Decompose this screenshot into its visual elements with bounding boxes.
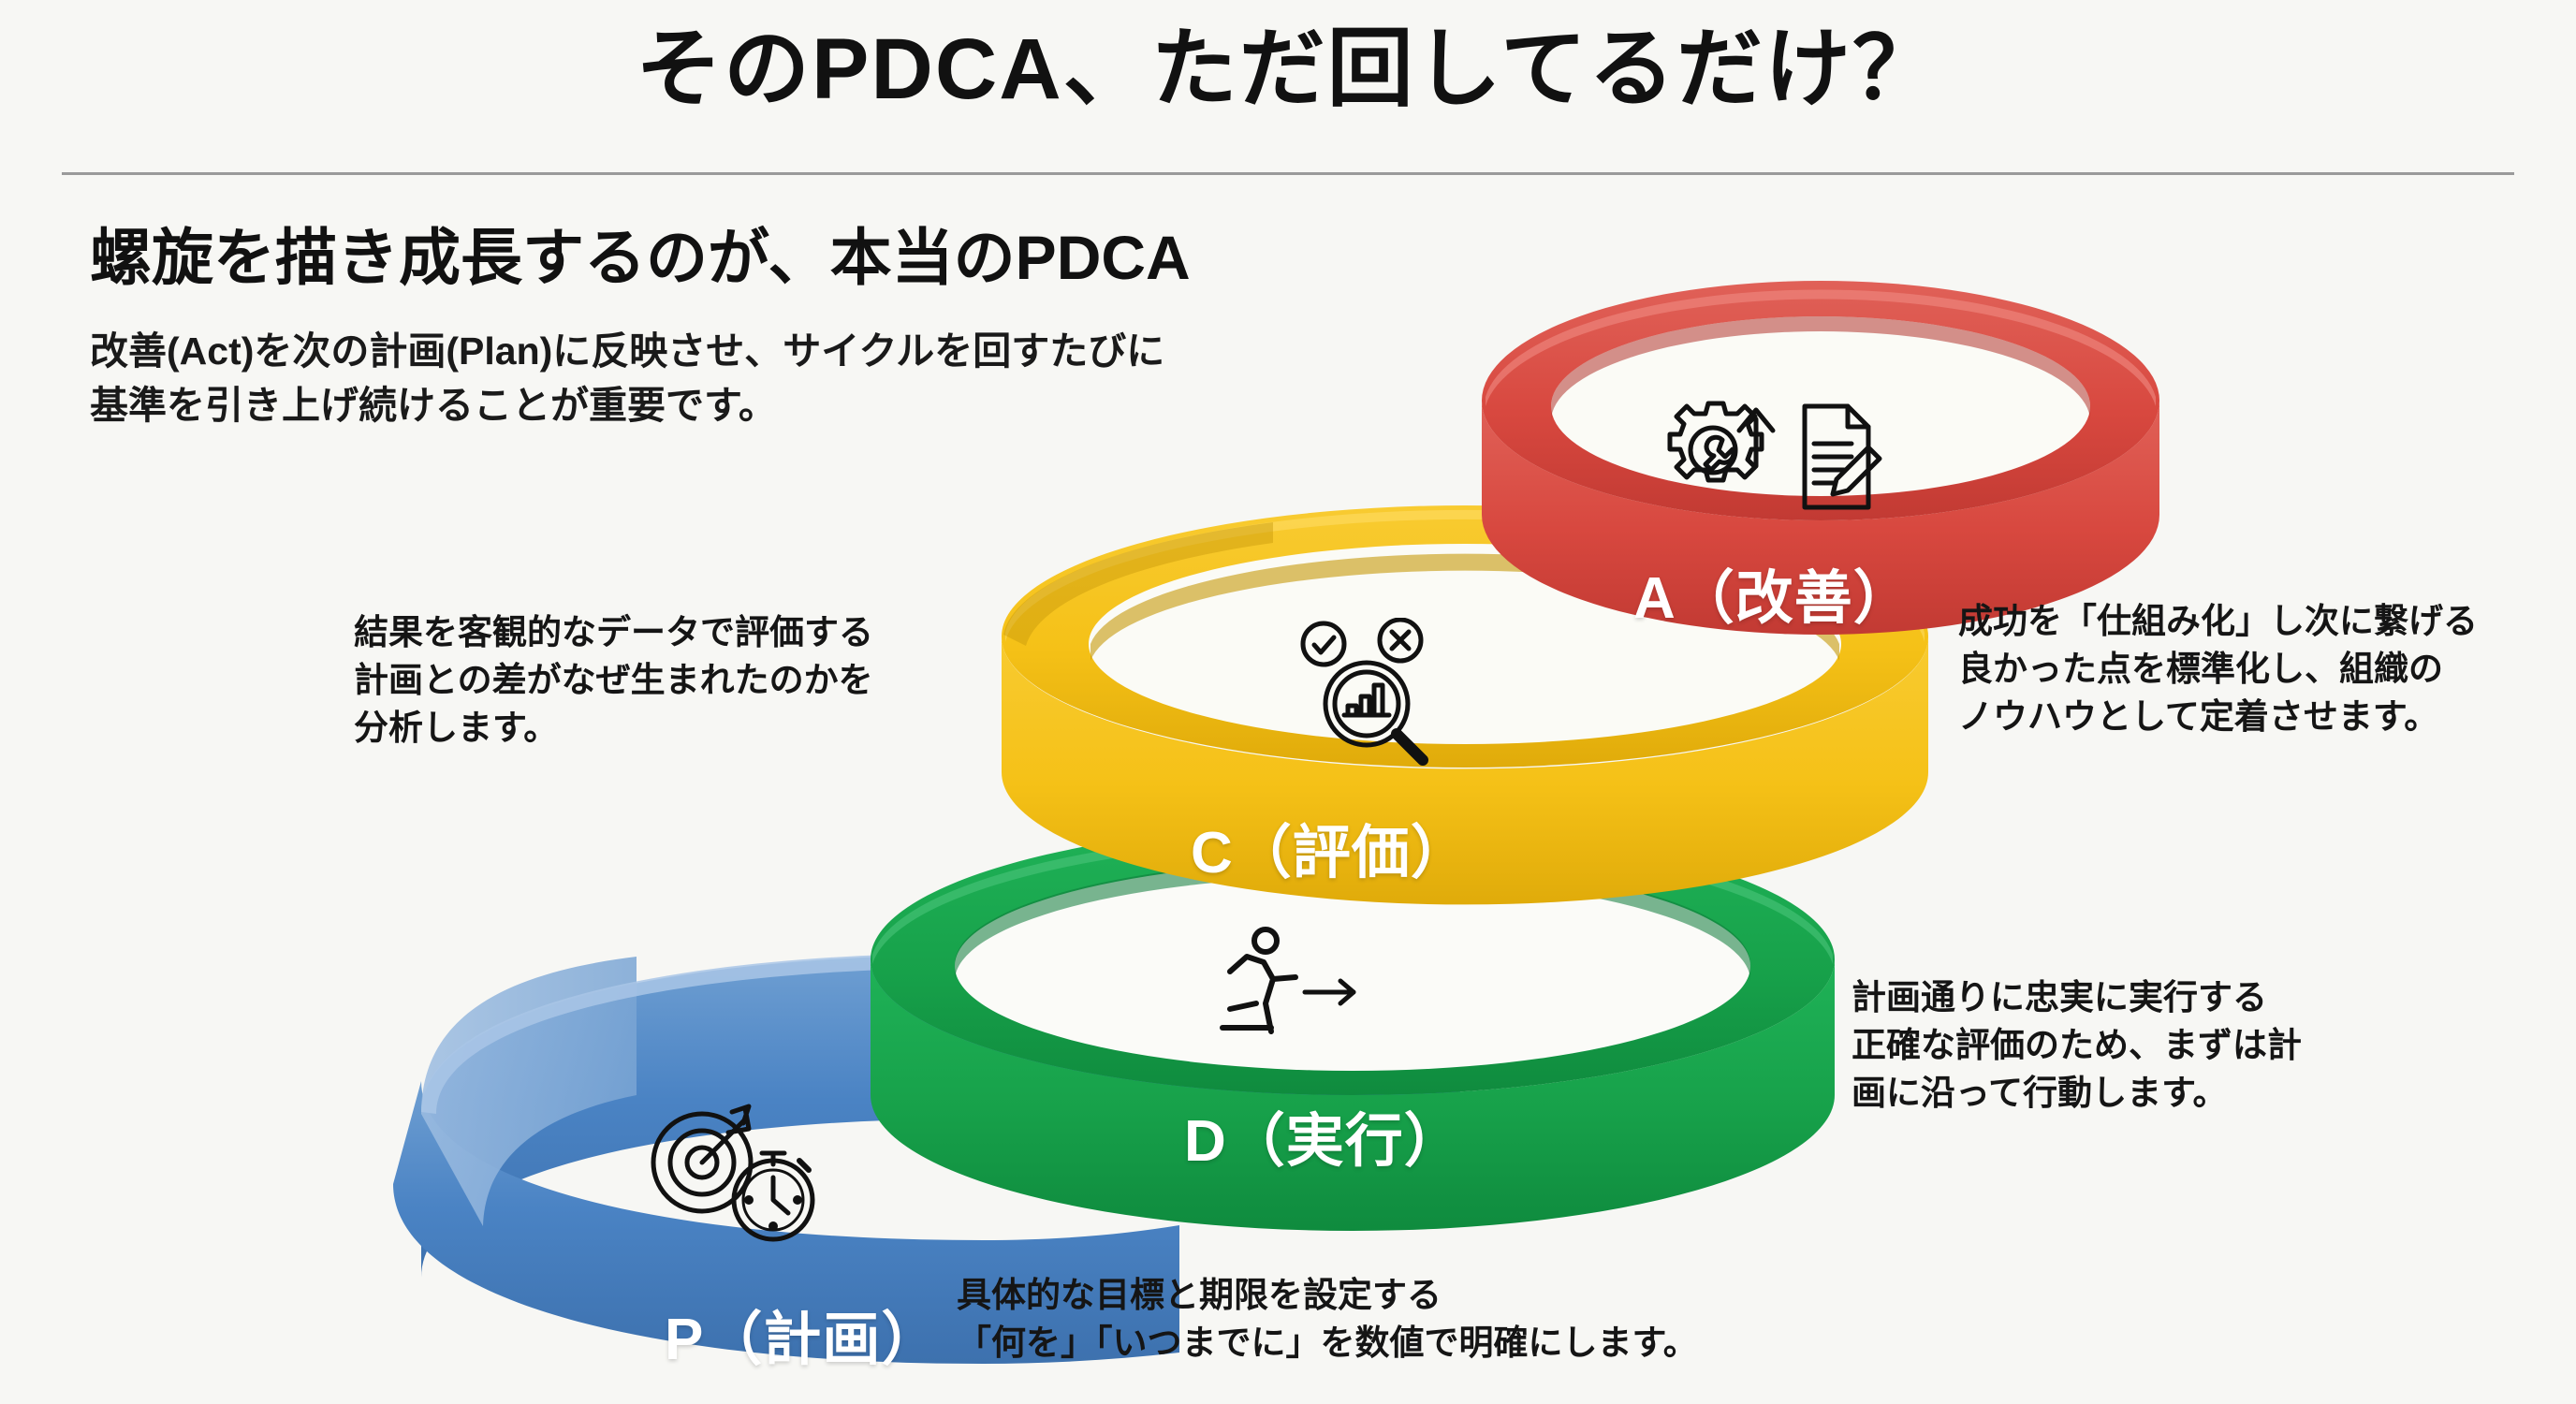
x-circle-icon (1380, 620, 1421, 661)
infographic-canvas: そのPDCA、ただ回してるだけ？ 螺旋を描き成長するのが、本当のPDCA 改善(… (0, 0, 2576, 1404)
annotation-act: 成功を「仕組み化」し次に繋げる 良かった点を標準化し、組織の ノウハウとして定着… (1958, 597, 2478, 740)
ring-label-act: A（改善） (1633, 550, 1912, 635)
stopwatch-icon (734, 1153, 812, 1239)
ring-label-plan: P（計画） (665, 1292, 940, 1376)
annotation-check: 結果を客観的なデータで評価する 計画との差がなぜ生まれたのかを 分析します。 (354, 608, 873, 752)
right-arrow-icon (1305, 981, 1354, 1003)
magnifier-barchart-icon (1325, 663, 1423, 760)
icon-group-plan (635, 1095, 831, 1259)
ring-label-do: D（実行） (1184, 1093, 1463, 1177)
icon-group-act (1646, 393, 1889, 538)
gear-wrench-uparrow-icon (1670, 403, 1773, 480)
ring-label-check: C（評価） (1191, 805, 1470, 889)
annotation-do: 計画通りに忠実に実行する 正確な評価のため、まずは計 画に沿って行動します。 (1851, 973, 2302, 1117)
annotation-plan: 具体的な目標と期限を設定する 「何を」「いつまでに」を数値で明確にします。 (957, 1271, 1698, 1367)
check-circle-icon (1303, 623, 1344, 665)
icon-group-do (1207, 925, 1385, 1051)
icon-group-check (1290, 618, 1468, 772)
running-person-icon (1222, 929, 1295, 1031)
document-pencil-icon (1805, 406, 1880, 507)
